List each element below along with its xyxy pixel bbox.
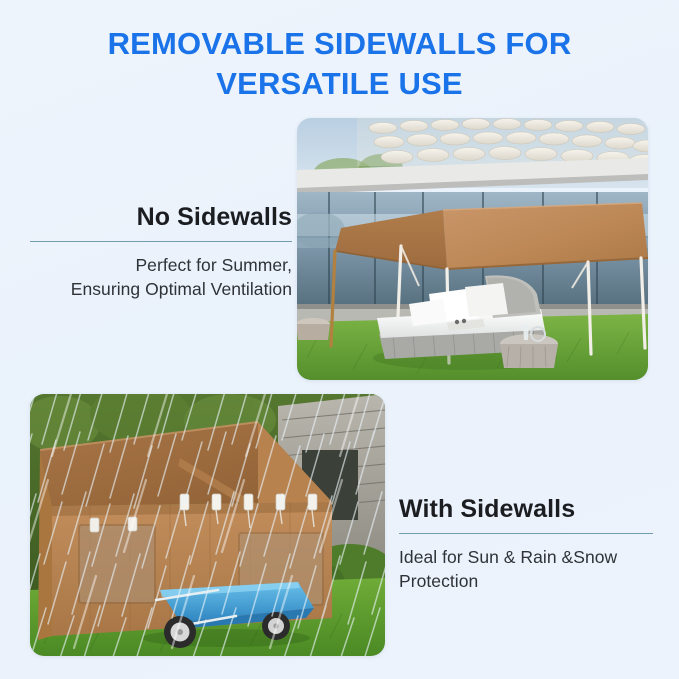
- carport-with-sidewalls-rain-photo: [30, 394, 385, 656]
- section-no-sidewalls-text: No Sidewalls Perfect for Summer, Ensurin…: [30, 204, 292, 301]
- section-heading-no-sidewalls: No Sidewalls: [30, 204, 292, 232]
- section-divider-top: [30, 241, 292, 242]
- section-body-line-1: Ideal for Sun & Rain &Snow: [399, 545, 653, 569]
- section-body-line-2: Ensuring Optimal Ventilation: [30, 277, 292, 301]
- section-body-no-sidewalls: Perfect for Summer, Ensuring Optimal Ven…: [30, 253, 292, 301]
- section-body-with-sidewalls: Ideal for Sun & Rain &Snow Protection: [399, 545, 653, 593]
- section-heading-with-sidewalls: With Sidewalls: [399, 496, 653, 524]
- canopy-no-sidewalls-illustration: [297, 118, 648, 380]
- infographic-page: REMOVABLE SIDEWALLS FOR VERSATILE USE No…: [0, 0, 679, 679]
- section-with-sidewalls-text: With Sidewalls Ideal for Sun & Rain &Sno…: [399, 496, 653, 593]
- section-body-line-1: Perfect for Summer,: [30, 253, 292, 277]
- page-title: REMOVABLE SIDEWALLS FOR VERSATILE USE: [0, 24, 679, 105]
- section-divider-bottom: [399, 533, 653, 534]
- carport-with-sidewalls-illustration: [30, 394, 385, 656]
- section-body-line-2: Protection: [399, 569, 653, 593]
- canopy-no-sidewalls-photo: [297, 118, 648, 380]
